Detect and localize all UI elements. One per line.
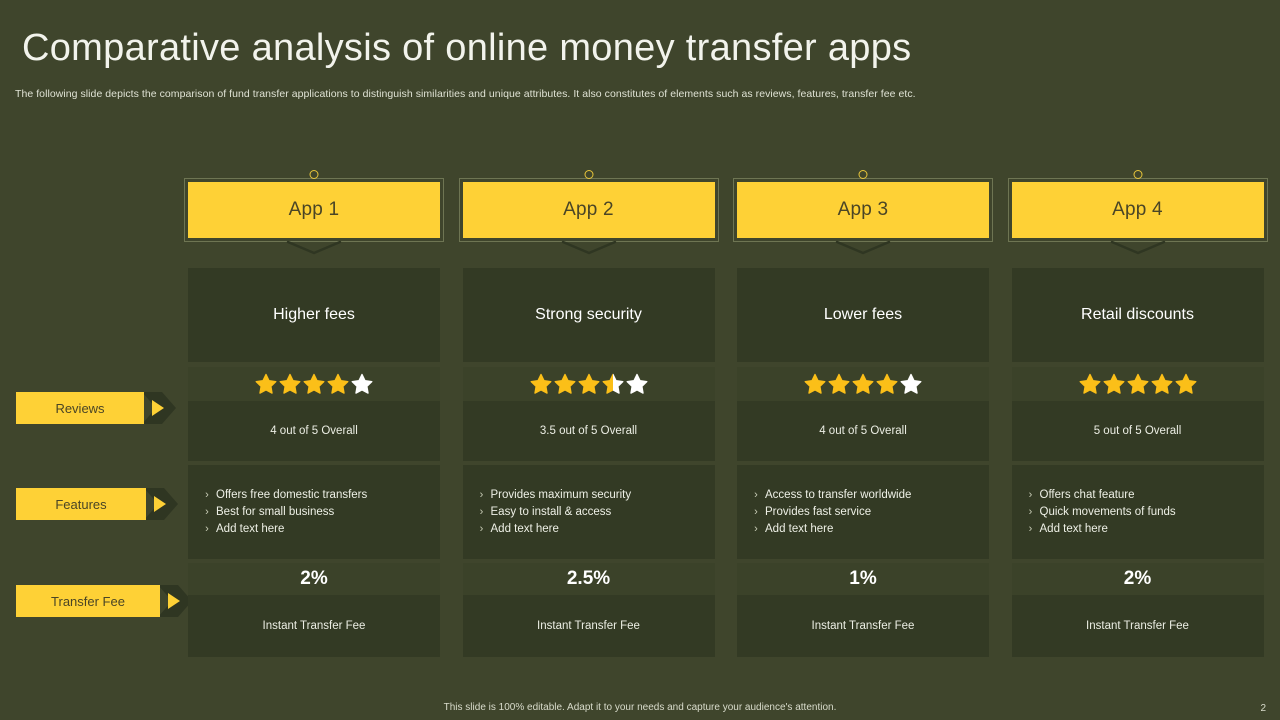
feature-list: ›Offers free domestic transfers›Best for… bbox=[188, 487, 440, 538]
star-filled-icon bbox=[578, 373, 600, 395]
star-filled-icon bbox=[876, 373, 898, 395]
features-panel: ›Offers free domestic transfers›Best for… bbox=[188, 465, 440, 559]
feature-text: Add text here bbox=[765, 521, 833, 538]
fee-value-strip: 1% bbox=[737, 563, 989, 595]
row-label-text: Features bbox=[55, 497, 106, 512]
slide-root: Comparative analysis of online money tra… bbox=[0, 0, 1280, 720]
fee-note: Instant Transfer Fee bbox=[463, 595, 715, 657]
row-label-features[interactable]: Features bbox=[16, 488, 180, 520]
rating-note: 5 out of 5 Overall bbox=[1012, 401, 1264, 461]
comparison-column-2: App 2Strong security3.5 out of 5 Overall… bbox=[463, 160, 715, 262]
transfer-fee-panel: 2.5%Instant Transfer Fee bbox=[463, 563, 715, 657]
feature-list: ›Access to transfer worldwide›Provides f… bbox=[737, 487, 989, 538]
row-label-transfer-fee[interactable]: Transfer Fee bbox=[16, 585, 194, 617]
star-filled-icon bbox=[279, 373, 301, 395]
fee-note: Instant Transfer Fee bbox=[737, 595, 989, 657]
star-rating bbox=[188, 367, 440, 401]
footer-note: This slide is 100% editable. Adapt it to… bbox=[0, 702, 1280, 713]
row-label-text: Reviews bbox=[55, 401, 104, 416]
column-header-button[interactable]: App 1 bbox=[188, 182, 440, 238]
feature-list-item: ›Add text here bbox=[747, 521, 989, 538]
fee-value: 2% bbox=[1124, 568, 1151, 590]
star-filled-icon bbox=[852, 373, 874, 395]
circle-marker-icon bbox=[1133, 170, 1142, 179]
circle-marker-icon bbox=[310, 170, 319, 179]
rating-note: 4 out of 5 Overall bbox=[188, 401, 440, 461]
feature-list-item: ›Add text here bbox=[198, 521, 440, 538]
description-panel: Strong security bbox=[463, 268, 715, 362]
feature-list: ›Provides maximum security›Easy to insta… bbox=[463, 487, 715, 538]
fee-note: Instant Transfer Fee bbox=[1012, 595, 1264, 657]
feature-text: Offers free domestic transfers bbox=[216, 487, 367, 504]
star-rating bbox=[463, 367, 715, 401]
transfer-fee-panel: 1%Instant Transfer Fee bbox=[737, 563, 989, 657]
star-empty-icon bbox=[900, 373, 922, 395]
chevron-right-icon: › bbox=[198, 487, 216, 504]
column-header-button[interactable]: App 2 bbox=[463, 182, 715, 238]
features-panel: ›Provides maximum security›Easy to insta… bbox=[463, 465, 715, 559]
description-panel: Lower fees bbox=[737, 268, 989, 362]
feature-list-item: ›Provides fast service bbox=[747, 504, 989, 521]
features-panel: ›Offers chat feature›Quick movements of … bbox=[1012, 465, 1264, 559]
column-header-wrap: App 3 bbox=[737, 160, 989, 262]
star-filled-icon bbox=[554, 373, 576, 395]
star-filled-icon bbox=[828, 373, 850, 395]
description-text: Strong security bbox=[535, 306, 642, 324]
chevron-right-icon: › bbox=[473, 487, 491, 504]
feature-text: Add text here bbox=[491, 521, 559, 538]
fee-note: Instant Transfer Fee bbox=[188, 595, 440, 657]
feature-list-item: ›Add text here bbox=[473, 521, 715, 538]
column-header-wrap: App 2 bbox=[463, 160, 715, 262]
row-label-tag[interactable]: Features bbox=[16, 488, 146, 520]
reviews-panel: 4 out of 5 Overall bbox=[737, 367, 989, 461]
fee-value-strip: 2% bbox=[188, 563, 440, 595]
row-label-reviews[interactable]: Reviews bbox=[16, 392, 178, 424]
column-header-label: App 2 bbox=[563, 199, 614, 221]
circle-marker-icon bbox=[859, 170, 868, 179]
star-filled-icon bbox=[530, 373, 552, 395]
chevron-right-icon: › bbox=[1022, 487, 1040, 504]
fee-value-strip: 2% bbox=[1012, 563, 1264, 595]
chevron-right-icon: › bbox=[747, 487, 765, 504]
fee-value: 2.5% bbox=[567, 568, 610, 590]
description-text: Retail discounts bbox=[1081, 306, 1194, 324]
chevron-down-icon bbox=[1110, 240, 1166, 256]
feature-text: Best for small business bbox=[216, 504, 334, 521]
star-empty-icon bbox=[626, 373, 648, 395]
feature-list-item: ›Access to transfer worldwide bbox=[747, 487, 989, 504]
features-panel: ›Access to transfer worldwide›Provides f… bbox=[737, 465, 989, 559]
column-header-label: App 1 bbox=[289, 199, 340, 221]
reviews-panel: 3.5 out of 5 Overall bbox=[463, 367, 715, 461]
arrow-pointer-icon bbox=[142, 390, 178, 426]
feature-list: ›Offers chat feature›Quick movements of … bbox=[1012, 487, 1264, 538]
feature-list-item: ›Easy to install & access bbox=[473, 504, 715, 521]
feature-text: Add text here bbox=[216, 521, 284, 538]
column-header-wrap: App 1 bbox=[188, 160, 440, 262]
star-empty-icon bbox=[351, 373, 373, 395]
row-label-text: Transfer Fee bbox=[51, 594, 125, 609]
feature-text: Quick movements of funds bbox=[1040, 504, 1176, 521]
feature-list-item: ›Offers free domestic transfers bbox=[198, 487, 440, 504]
feature-text: Add text here bbox=[1040, 521, 1108, 538]
star-filled-icon bbox=[255, 373, 277, 395]
feature-list-item: ›Offers chat feature bbox=[1022, 487, 1264, 504]
feature-text: Offers chat feature bbox=[1040, 487, 1135, 504]
circle-marker-icon bbox=[584, 170, 593, 179]
row-label-tag[interactable]: Reviews bbox=[16, 392, 144, 424]
chevron-right-icon: › bbox=[747, 504, 765, 521]
description-text: Higher fees bbox=[273, 306, 355, 324]
star-filled-icon bbox=[1175, 373, 1197, 395]
chevron-right-icon: › bbox=[1022, 504, 1040, 521]
comparison-column-1: App 1Higher fees4 out of 5 Overall›Offer… bbox=[188, 160, 440, 262]
reviews-panel: 5 out of 5 Overall bbox=[1012, 367, 1264, 461]
star-rating bbox=[737, 367, 989, 401]
reviews-panel: 4 out of 5 Overall bbox=[188, 367, 440, 461]
feature-text: Easy to install & access bbox=[491, 504, 612, 521]
star-filled-icon bbox=[1151, 373, 1173, 395]
column-header-label: App 4 bbox=[1112, 199, 1163, 221]
column-header-label: App 3 bbox=[838, 199, 889, 221]
arrow-pointer-icon bbox=[144, 486, 180, 522]
star-filled-icon bbox=[303, 373, 325, 395]
chevron-down-icon bbox=[835, 240, 891, 256]
comparison-column-4: App 4Retail discounts5 out of 5 Overall›… bbox=[1012, 160, 1264, 262]
column-header-button[interactable]: App 4 bbox=[1012, 182, 1264, 238]
feature-list-item: ›Add text here bbox=[1022, 521, 1264, 538]
transfer-fee-panel: 2%Instant Transfer Fee bbox=[188, 563, 440, 657]
column-header-wrap: App 4 bbox=[1012, 160, 1264, 262]
feature-list-item: ›Provides maximum security bbox=[473, 487, 715, 504]
rating-note: 4 out of 5 Overall bbox=[737, 401, 989, 461]
fee-value: 1% bbox=[849, 568, 876, 590]
page-number: 2 bbox=[1260, 703, 1266, 714]
star-filled-icon bbox=[1103, 373, 1125, 395]
feature-text: Provides maximum security bbox=[491, 487, 632, 504]
star-filled-icon bbox=[804, 373, 826, 395]
row-label-tag[interactable]: Transfer Fee bbox=[16, 585, 160, 617]
description-panel: Higher fees bbox=[188, 268, 440, 362]
feature-text: Access to transfer worldwide bbox=[765, 487, 911, 504]
description-text: Lower fees bbox=[824, 306, 902, 324]
page-subtitle: The following slide depicts the comparis… bbox=[15, 88, 1265, 100]
feature-list-item: ›Best for small business bbox=[198, 504, 440, 521]
transfer-fee-panel: 2%Instant Transfer Fee bbox=[1012, 563, 1264, 657]
chevron-down-icon bbox=[286, 240, 342, 256]
star-filled-icon bbox=[1079, 373, 1101, 395]
fee-value-strip: 2.5% bbox=[463, 563, 715, 595]
feature-text: Provides fast service bbox=[765, 504, 871, 521]
feature-list-item: ›Quick movements of funds bbox=[1022, 504, 1264, 521]
comparison-column-3: App 3Lower fees4 out of 5 Overall›Access… bbox=[737, 160, 989, 262]
chevron-right-icon: › bbox=[473, 504, 491, 521]
page-title: Comparative analysis of online money tra… bbox=[22, 27, 911, 70]
chevron-right-icon: › bbox=[747, 521, 765, 538]
chevron-down-icon bbox=[561, 240, 617, 256]
star-half-icon bbox=[602, 373, 624, 395]
chevron-right-icon: › bbox=[473, 521, 491, 538]
star-filled-icon bbox=[1127, 373, 1149, 395]
chevron-right-icon: › bbox=[198, 521, 216, 538]
description-panel: Retail discounts bbox=[1012, 268, 1264, 362]
fee-value: 2% bbox=[300, 568, 327, 590]
rating-note: 3.5 out of 5 Overall bbox=[463, 401, 715, 461]
chevron-right-icon: › bbox=[198, 504, 216, 521]
star-filled-icon bbox=[327, 373, 349, 395]
star-rating bbox=[1012, 367, 1264, 401]
chevron-right-icon: › bbox=[1022, 521, 1040, 538]
column-header-button[interactable]: App 3 bbox=[737, 182, 989, 238]
